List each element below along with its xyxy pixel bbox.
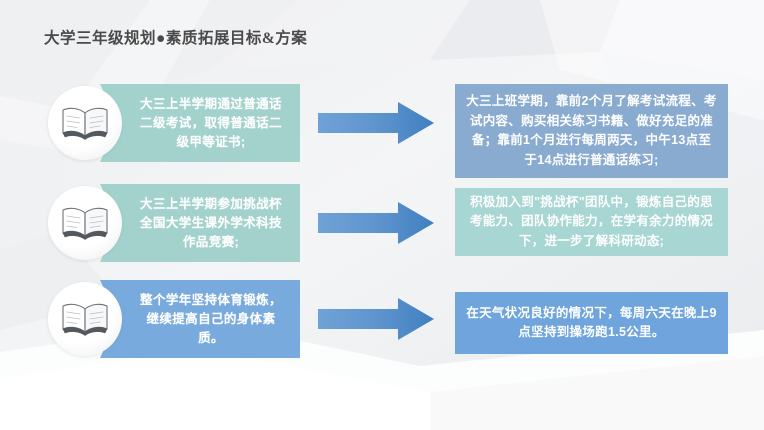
right-arrow-icon bbox=[318, 298, 434, 340]
plan-text: 在天气状况良好的情况下，每周六天在晚上9点坚持到操场跑1.5公里。 bbox=[466, 304, 718, 343]
goal-text: 大三上半学期通过普通话二级考试，取得普通话二级甲等证书; bbox=[134, 95, 288, 152]
right-arrow-icon bbox=[318, 202, 434, 244]
open-book-icon bbox=[48, 86, 122, 160]
goal-box[interactable]: 大三上半学期通过普通话二级考试，取得普通话二级甲等证书; bbox=[100, 84, 300, 162]
goal-row: 整个学年坚持体育锻炼，继续提高自己的身体素质。 在天气状况良好的情况下，每周六天… bbox=[0, 278, 764, 364]
goal-box[interactable]: 整个学年坚持体育锻炼，继续提高自己的身体素质。 bbox=[100, 280, 300, 358]
plan-text: 积极加入到"挑战杯"团队中，锻炼自己的思考能力、团队协作能力，在学有余力的情况下… bbox=[466, 193, 718, 252]
open-book-icon bbox=[48, 186, 122, 260]
goal-row: 大三上半学期参加挑战杯全国大学生课外学术科技作品竞赛; 积极加入到"挑战杯"团队… bbox=[0, 182, 764, 268]
goal-text: 整个学年坚持体育锻炼，继续提高自己的身体素质。 bbox=[134, 291, 288, 348]
goal-text: 大三上半学期参加挑战杯全国大学生课外学术科技作品竞赛; bbox=[134, 195, 288, 252]
plan-box[interactable]: 大三上班学期，靠前2个月了解考试流程、考试内容、购买相关练习书籍、做好充足的准备… bbox=[455, 84, 728, 178]
slide-canvas: 大学三年级规划●素质拓展目标&方案 bbox=[0, 0, 764, 430]
plan-box[interactable]: 积极加入到"挑战杯"团队中，锻炼自己的思考能力、团队协作能力，在学有余力的情况下… bbox=[455, 188, 728, 256]
page-title: 大学三年级规划●素质拓展目标&方案 bbox=[44, 26, 307, 48]
plan-text: 大三上班学期，靠前2个月了解考试流程、考试内容、购买相关练习书籍、做好充足的准备… bbox=[466, 92, 718, 170]
goal-row: 大三上半学期通过普通话二级考试，取得普通话二级甲等证书; 大三上班学期，靠前2个… bbox=[0, 82, 764, 168]
plan-box[interactable]: 在天气状况良好的情况下，每周六天在晚上9点坚持到操场跑1.5公里。 bbox=[455, 292, 728, 354]
goal-box[interactable]: 大三上半学期参加挑战杯全国大学生课外学术科技作品竞赛; bbox=[100, 184, 300, 262]
open-book-icon bbox=[48, 282, 122, 356]
right-arrow-icon bbox=[318, 102, 434, 144]
